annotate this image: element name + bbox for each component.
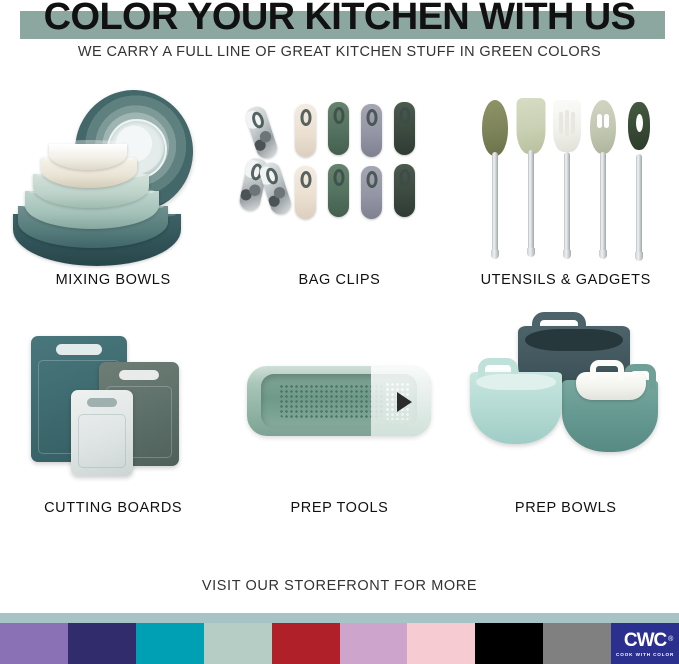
page-subtitle: WE CARRY A FULL LINE OF GREAT KITCHEN ST…	[0, 44, 679, 60]
category-label: PREP TOOLS	[291, 500, 389, 516]
cutting-boards-image	[13, 314, 213, 494]
bag-clips-image	[239, 86, 439, 266]
spoon-icon	[480, 100, 510, 260]
promo-banner: COLOR YOUR KITCHEN WITH US WE CARRY A FU…	[0, 0, 679, 664]
colander-icon	[247, 366, 431, 436]
swatch-orchid[interactable]	[340, 623, 408, 664]
category-label: MIXING BOWLS	[56, 272, 171, 288]
mixing-bowls-image	[13, 86, 213, 266]
swatch-teal[interactable]	[136, 623, 204, 664]
slotted-spoon-icon	[588, 100, 618, 260]
clip-green-1-icon	[328, 102, 349, 155]
category-label: UTENSILS & GADGETS	[481, 272, 651, 288]
prep-tools-image	[239, 314, 439, 494]
swatch-black[interactable]	[475, 623, 543, 664]
utensils-image	[466, 86, 666, 266]
banner-header: COLOR YOUR KITCHEN WITH US WE CARRY A FU…	[0, 0, 679, 72]
category-card-prep-tools[interactable]: PREP TOOLS	[226, 314, 452, 516]
clip-cream-2-icon	[295, 166, 316, 219]
category-card-prep-bowls[interactable]: PREP BOWLS	[453, 314, 679, 516]
cwc-logo-mark: CWC®	[624, 631, 666, 650]
category-grid: MIXING BOWLS	[0, 86, 679, 516]
spatula-icon	[516, 98, 546, 258]
category-label: PREP BOWLS	[515, 500, 617, 516]
swatch-red[interactable]	[272, 623, 340, 664]
clip-dark-2-icon	[394, 164, 415, 217]
slotted-turner-icon	[552, 100, 582, 260]
clip-cream-1-icon	[295, 104, 316, 157]
page-title: COLOR YOUR KITCHEN WITH US	[0, 0, 679, 38]
category-label: CUTTING BOARDS	[44, 500, 182, 516]
color-swatch-strip: CWC® COOK WITH COLOR	[0, 623, 679, 664]
cwc-logo: CWC® COOK WITH COLOR	[611, 623, 679, 664]
category-row-1: MIXING BOWLS	[0, 86, 679, 288]
prep-bowl-mint-icon	[470, 372, 562, 444]
swatch-sage[interactable]	[204, 623, 272, 664]
category-card-bag-clips[interactable]: BAG CLIPS	[226, 86, 452, 288]
swatch-navy[interactable]	[68, 623, 136, 664]
registered-mark-icon: ®	[668, 630, 672, 649]
storefront-cta[interactable]: VISIT OUR STOREFRONT FOR MORE	[0, 578, 679, 594]
cwc-logo-text: CWC	[624, 630, 666, 651]
category-card-utensils-gadgets[interactable]: UTENSILS & GADGETS	[453, 86, 679, 288]
prep-bowls-image	[466, 314, 666, 494]
clip-gray-1-icon	[361, 104, 382, 157]
clip-green-2-icon	[328, 164, 349, 217]
prep-bowl-lid-icon	[576, 372, 646, 400]
swatch-blush-pink[interactable]	[407, 623, 475, 664]
swatch-gray[interactable]	[543, 623, 611, 664]
swatch-purple[interactable]	[0, 623, 68, 664]
category-label: BAG CLIPS	[298, 272, 380, 288]
clip-dark-1-icon	[394, 102, 415, 155]
clip-marble-1-icon	[244, 104, 280, 161]
brand-logo-block[interactable]: CWC® COOK WITH COLOR	[611, 623, 679, 664]
category-card-mixing-bowls[interactable]: MIXING BOWLS	[0, 86, 226, 288]
clip-gray-2-icon	[361, 166, 382, 219]
cutting-board-small-icon	[71, 390, 133, 476]
cwc-tagline: COOK WITH COLOR	[616, 652, 674, 657]
play-arrow-icon	[397, 392, 412, 412]
category-card-cutting-boards[interactable]: CUTTING BOARDS	[0, 314, 226, 516]
pasta-server-icon	[624, 102, 654, 262]
footer-top-band	[0, 613, 679, 623]
category-row-2: CUTTING BOARDS PREP TOOLS	[0, 314, 679, 516]
